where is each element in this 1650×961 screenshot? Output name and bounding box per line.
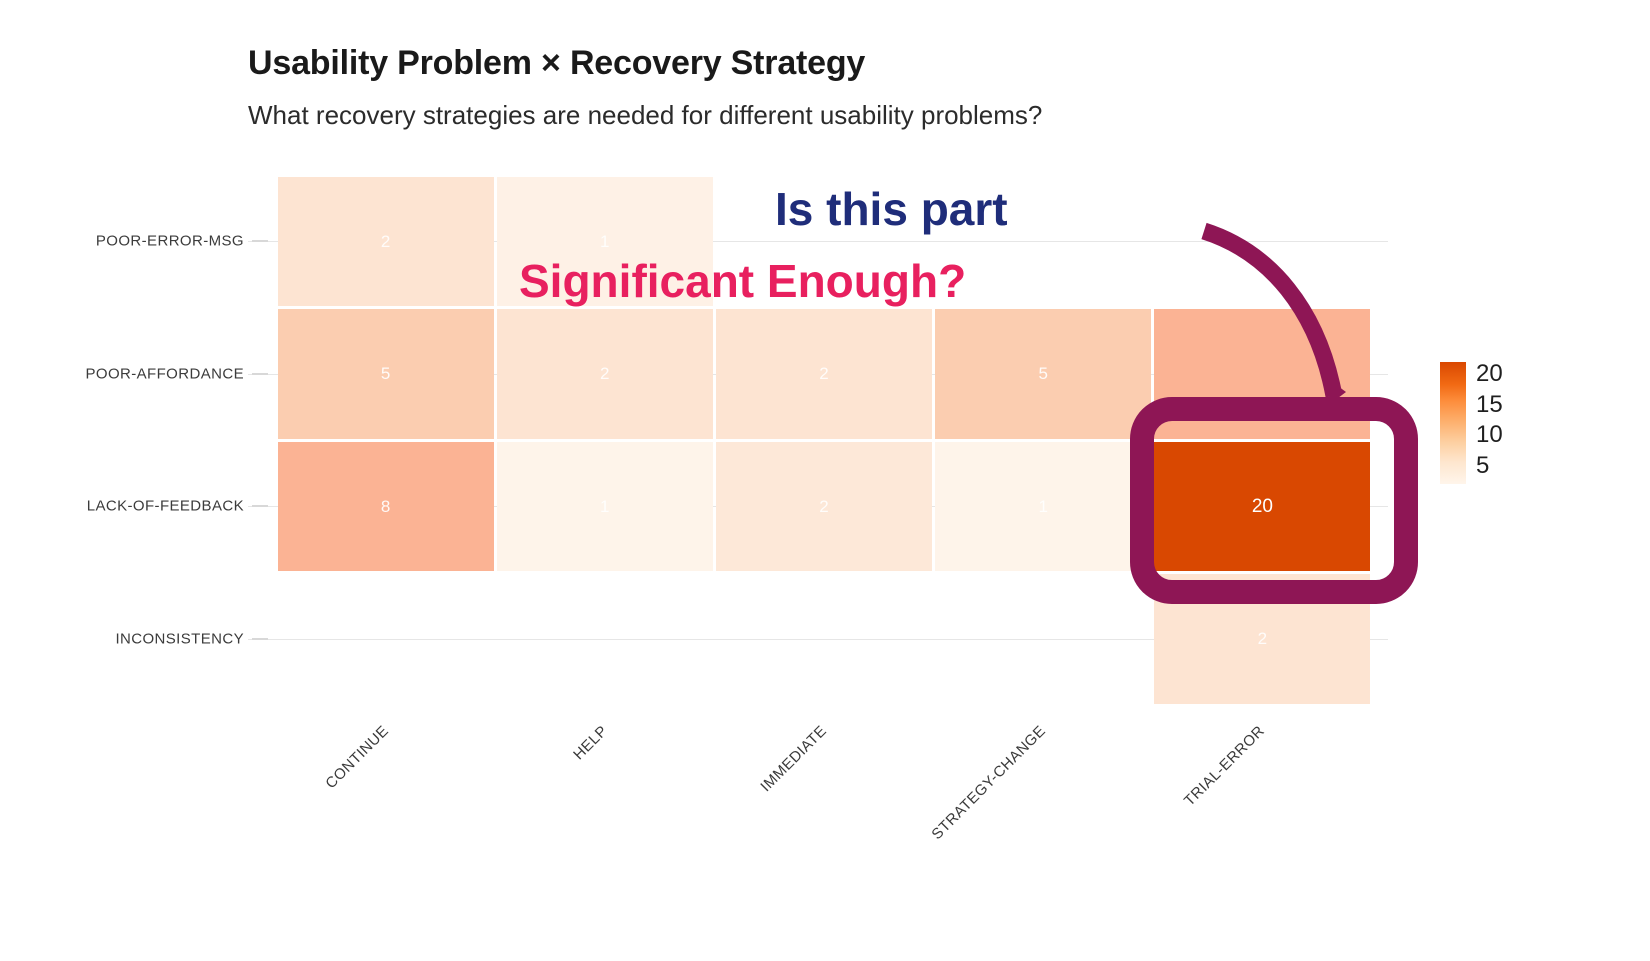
heatmap-cell[interactable]: 5	[278, 309, 494, 439]
heatmap-cell[interactable]: 2	[497, 309, 713, 439]
heatmap-cell[interactable]: 1	[935, 442, 1151, 572]
y-axis-label: LACK-OF-FEEDBACK	[87, 498, 244, 515]
heatmap-cell[interactable]: 2	[1154, 574, 1370, 704]
y-axis-label: POOR-ERROR-MSG	[96, 233, 244, 250]
heatmap-cell-value: 2	[600, 365, 609, 382]
heatmap-cell-value: 2	[1258, 630, 1267, 647]
color-legend-tick-label: 20	[1476, 362, 1503, 386]
heatmap-cell[interactable]: 2	[716, 442, 932, 572]
x-axis-label: CONTINUE	[153, 722, 391, 960]
heatmap-cell-value: 2	[819, 365, 828, 382]
y-axis-tick	[252, 505, 268, 507]
heatmap-cell-value: 20	[1252, 497, 1273, 516]
heatmap-cell[interactable]: 1	[497, 442, 713, 572]
page-title: Usability Problem × Recovery Strategy	[248, 44, 865, 83]
heatmap-cell[interactable]: 8	[278, 442, 494, 572]
heatmap-cell-value: 8	[381, 498, 390, 515]
chart-canvas: Usability Problem × Recovery Strategy Wh…	[0, 0, 1650, 922]
color-legend-tick-label: 15	[1476, 393, 1503, 417]
heatmap-cell-value: 1	[1038, 498, 1047, 515]
heatmap-cell[interactable]: 20	[1154, 442, 1370, 572]
x-axis-label: STRATEGY-CHANGE	[811, 722, 1049, 960]
color-legend[interactable]: 2015105	[1440, 362, 1600, 492]
annotation-line-2: Significant Enough?	[519, 258, 966, 304]
heatmap-cell-value: 1	[600, 498, 609, 515]
color-legend-tick-label: 5	[1476, 454, 1489, 478]
page-subtitle: What recovery strategies are needed for …	[248, 100, 1042, 131]
y-axis-tick	[252, 638, 268, 640]
x-axis-label: TRIAL-ERROR	[1030, 722, 1268, 960]
y-axis-label: POOR-AFFORDANCE	[85, 365, 244, 382]
color-legend-gradient	[1440, 362, 1466, 484]
y-axis-tick	[252, 240, 268, 242]
y-axis-tick	[252, 373, 268, 375]
y-axis-label: INCONSISTENCY	[115, 630, 244, 647]
heatmap-cell[interactable]: 2	[278, 177, 494, 307]
annotation-line-1: Is this part	[775, 186, 1008, 232]
heatmap-cell-value: 2	[381, 233, 390, 250]
heatmap-cell[interactable]: 5	[935, 309, 1151, 439]
color-legend-tick-label: 10	[1476, 423, 1503, 447]
x-axis-label: IMMEDIATE	[592, 722, 830, 960]
heatmap-cell-value: 2	[819, 498, 828, 515]
heatmap-cell-value: 1	[600, 233, 609, 250]
heatmap-cell[interactable]	[1154, 309, 1370, 439]
heatmap-cell[interactable]: 2	[716, 309, 932, 439]
x-axis-label: HELP	[373, 722, 611, 960]
heatmap-cell-value: 5	[1038, 365, 1047, 382]
heatmap-cell-value: 5	[381, 365, 390, 382]
